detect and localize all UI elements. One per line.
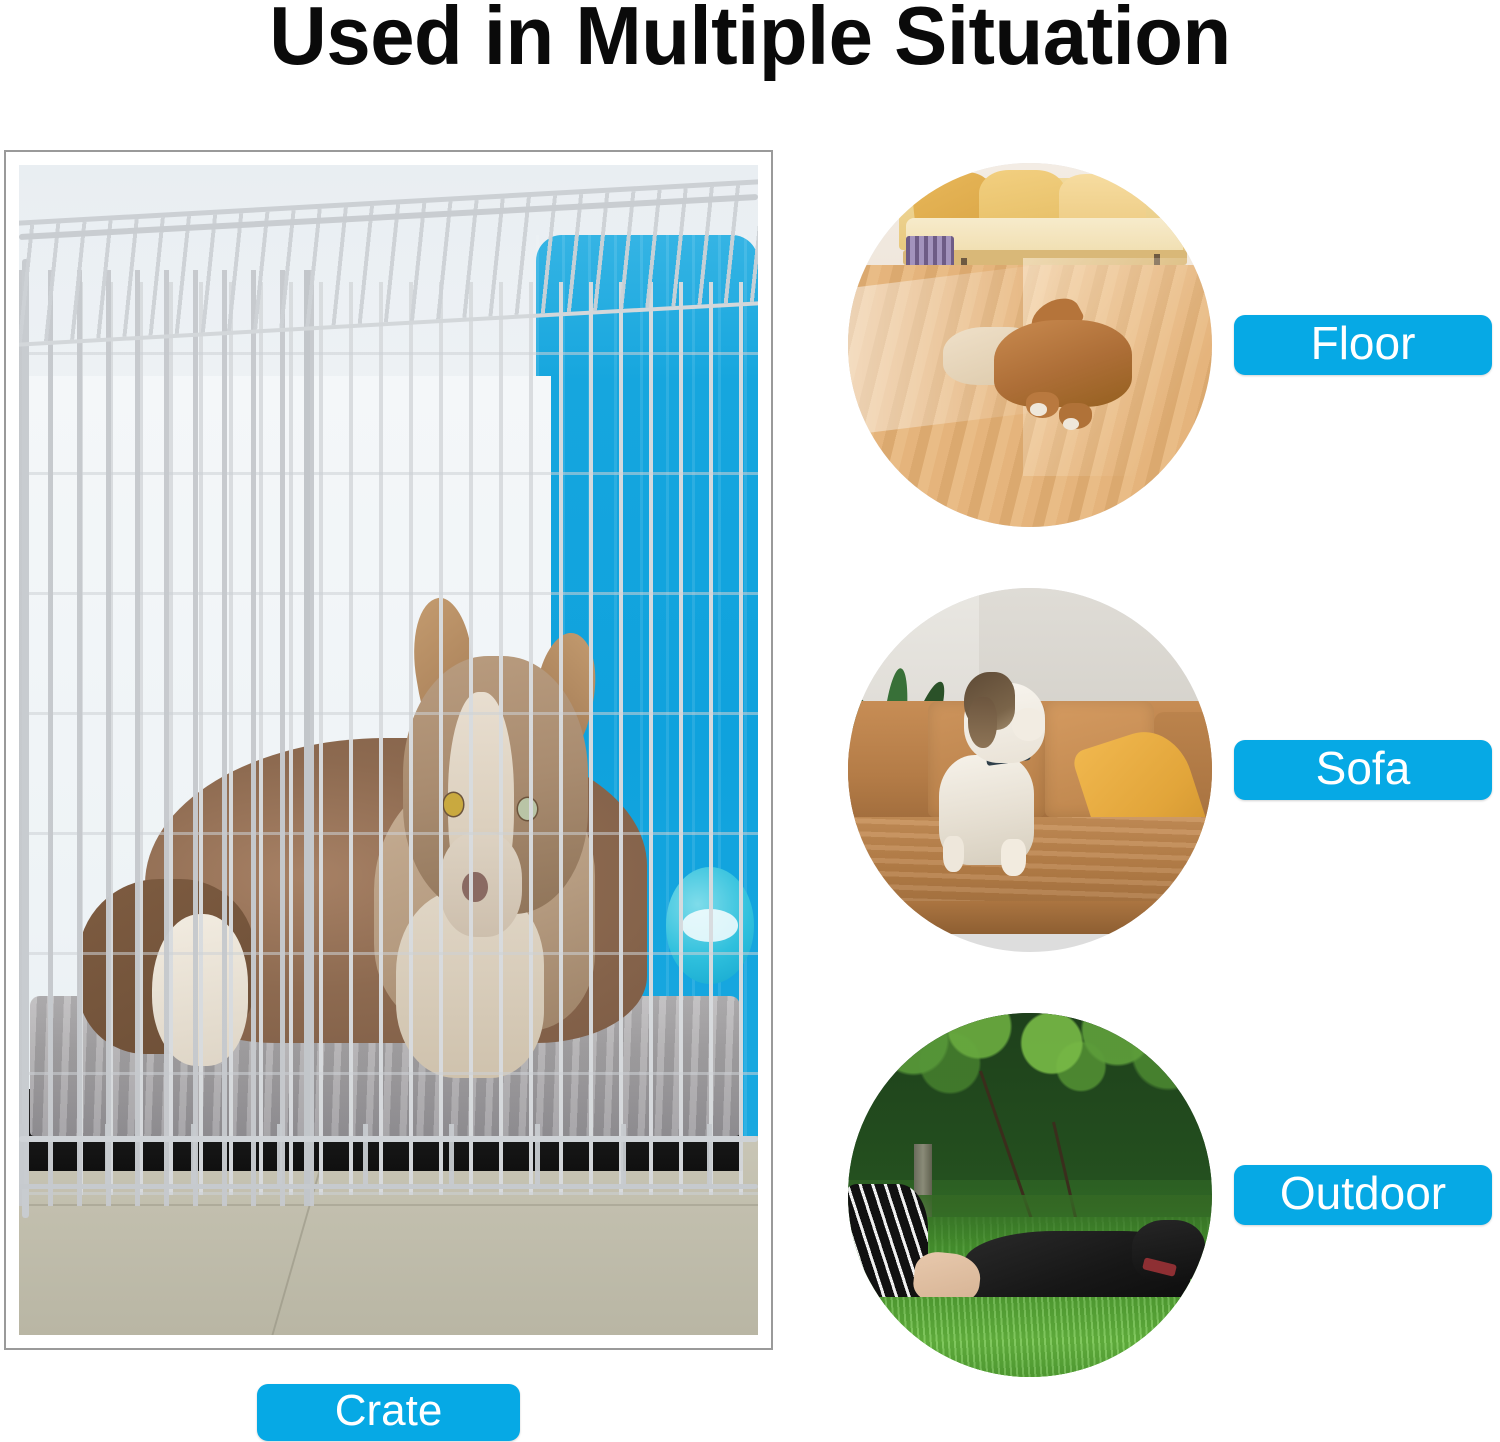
sofa-seat-edge — [848, 901, 1212, 934]
crate-base-rail-upper — [19, 1136, 758, 1142]
sofa-dog-leg-2 — [1001, 839, 1026, 875]
outdoor-tree-canopy — [848, 1013, 1212, 1180]
floor-dog — [994, 320, 1132, 407]
scene-label-crate: Crate — [257, 1384, 520, 1441]
scene-outdoor-image — [848, 1013, 1212, 1377]
sofa-dog-muzzle — [1012, 708, 1045, 741]
crate-door-panel — [19, 270, 315, 1206]
crate-base-rail-lower — [19, 1184, 758, 1189]
scene-floor-image — [848, 163, 1212, 527]
crate-photo-frame — [4, 150, 773, 1350]
sofa-dog-leg-1 — [943, 836, 965, 872]
scene-label-crate-text: Crate — [335, 1389, 443, 1433]
outdoor-striped-sleeve — [848, 1184, 928, 1315]
scene-label-outdoor-text: Outdoor — [1280, 1170, 1446, 1216]
scene-sofa-image — [848, 588, 1212, 952]
page-title: Used in Multiple Situation — [30, 0, 1470, 77]
floor-dog-paw-1 — [1030, 403, 1047, 415]
scene-label-floor: Floor — [1234, 315, 1492, 375]
scene-label-sofa-text: Sofa — [1316, 745, 1411, 791]
outdoor-grass-foreground — [848, 1297, 1212, 1377]
scene-label-outdoor: Outdoor — [1234, 1165, 1492, 1225]
crate-base-bars — [19, 1124, 758, 1188]
crate-corner-post — [22, 259, 29, 1218]
sofa-dog-ear — [968, 697, 997, 748]
scene-label-sofa: Sofa — [1234, 740, 1492, 800]
scene-label-floor-text: Floor — [1311, 320, 1416, 366]
crate-door-edge — [304, 270, 310, 1206]
crate-photo — [19, 165, 758, 1335]
